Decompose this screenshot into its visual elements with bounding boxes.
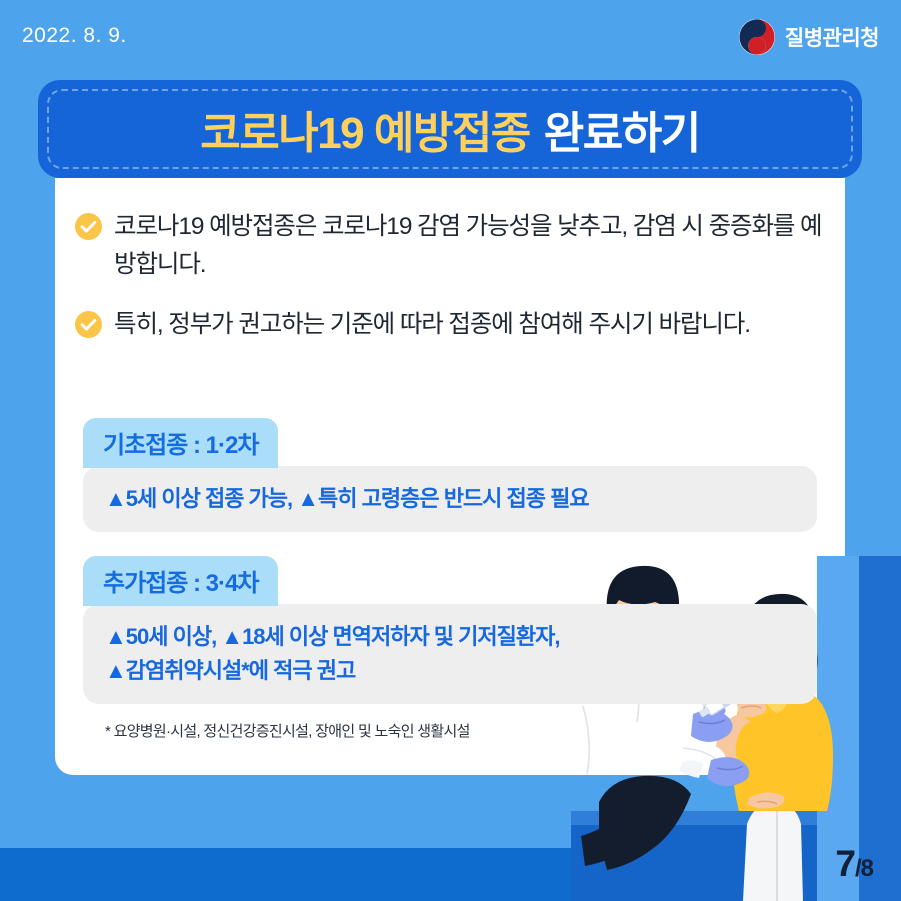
list-item: 특히, 정부가 권고하는 기준에 따라 접종에 참여해 주시기 바랍니다. <box>75 306 825 344</box>
section-tab-label: 기초접종 : 1·2차 <box>83 418 278 468</box>
page-title: 코로나19 예방접종 완료하기 <box>38 80 862 178</box>
bottom-color-band <box>0 848 901 901</box>
check-circle-icon <box>75 213 102 240</box>
content-card: 코로나19 예방접종은 코로나19 감염 가능성을 낮추고, 감염 시 중증화를… <box>55 178 845 775</box>
bullet-text: 특히, 정부가 권고하는 기준에 따라 접종에 참여해 주시기 바랍니다. <box>114 306 750 344</box>
bullet-list: 코로나19 예방접종은 코로나19 감염 가능성을 낮추고, 감염 시 중증화를… <box>75 208 825 367</box>
title-banner: 코로나19 예방접종 완료하기 <box>38 80 862 178</box>
section-line: ▲50세 이상, ▲18세 이상 면역저하자 및 기저질환자, <box>105 620 795 654</box>
publish-date: 2022. 8. 9. <box>22 24 127 48</box>
section-line: ▲감염취약시설*에 적극 권고 <box>105 654 795 688</box>
check-circle-icon <box>75 311 102 338</box>
footnote: * 요양병원·시설, 정신건강증진시설, 장애인 및 노숙인 생활시설 <box>105 720 470 741</box>
section-basic-doses: 기초접종 : 1·2차 ▲5세 이상 접종 가능, ▲특히 고령층은 반드시 접… <box>83 418 817 532</box>
title-highlight: 코로나19 예방접종 <box>200 97 530 161</box>
korea-government-taegeuk-icon <box>738 18 776 56</box>
list-item: 코로나19 예방접종은 코로나19 감염 가능성을 낮추고, 감염 시 중증화를… <box>75 208 825 284</box>
brand-name: 질병관리청 <box>785 22 879 52</box>
bullet-text: 코로나19 예방접종은 코로나19 감염 가능성을 낮추고, 감염 시 중증화를… <box>114 208 825 284</box>
brand-block: 질병관리청 <box>738 18 879 56</box>
header: 2022. 8. 9. 질병관리청 <box>0 0 901 72</box>
section-tab-label: 추가접종 : 3·4차 <box>83 556 278 606</box>
title-plain: 완료하기 <box>544 97 700 161</box>
page-current: 7 <box>835 843 855 885</box>
page-number: 7 /8 <box>835 843 873 885</box>
section-line: ▲5세 이상 접종 가능, ▲특히 고령층은 반드시 접종 필요 <box>105 482 795 516</box>
infographic-card: 2022. 8. 9. 질병관리청 코로나19 예방접종 완료하기 <box>0 0 901 901</box>
section-body: ▲5세 이상 접종 가능, ▲특히 고령층은 반드시 접종 필요 <box>83 466 817 532</box>
section-booster-doses: 추가접종 : 3·4차 ▲50세 이상, ▲18세 이상 면역저하자 및 기저질… <box>83 556 817 704</box>
page-total: /8 <box>855 855 873 883</box>
section-body: ▲50세 이상, ▲18세 이상 면역저하자 및 기저질환자, ▲감염취약시설*… <box>83 604 817 704</box>
